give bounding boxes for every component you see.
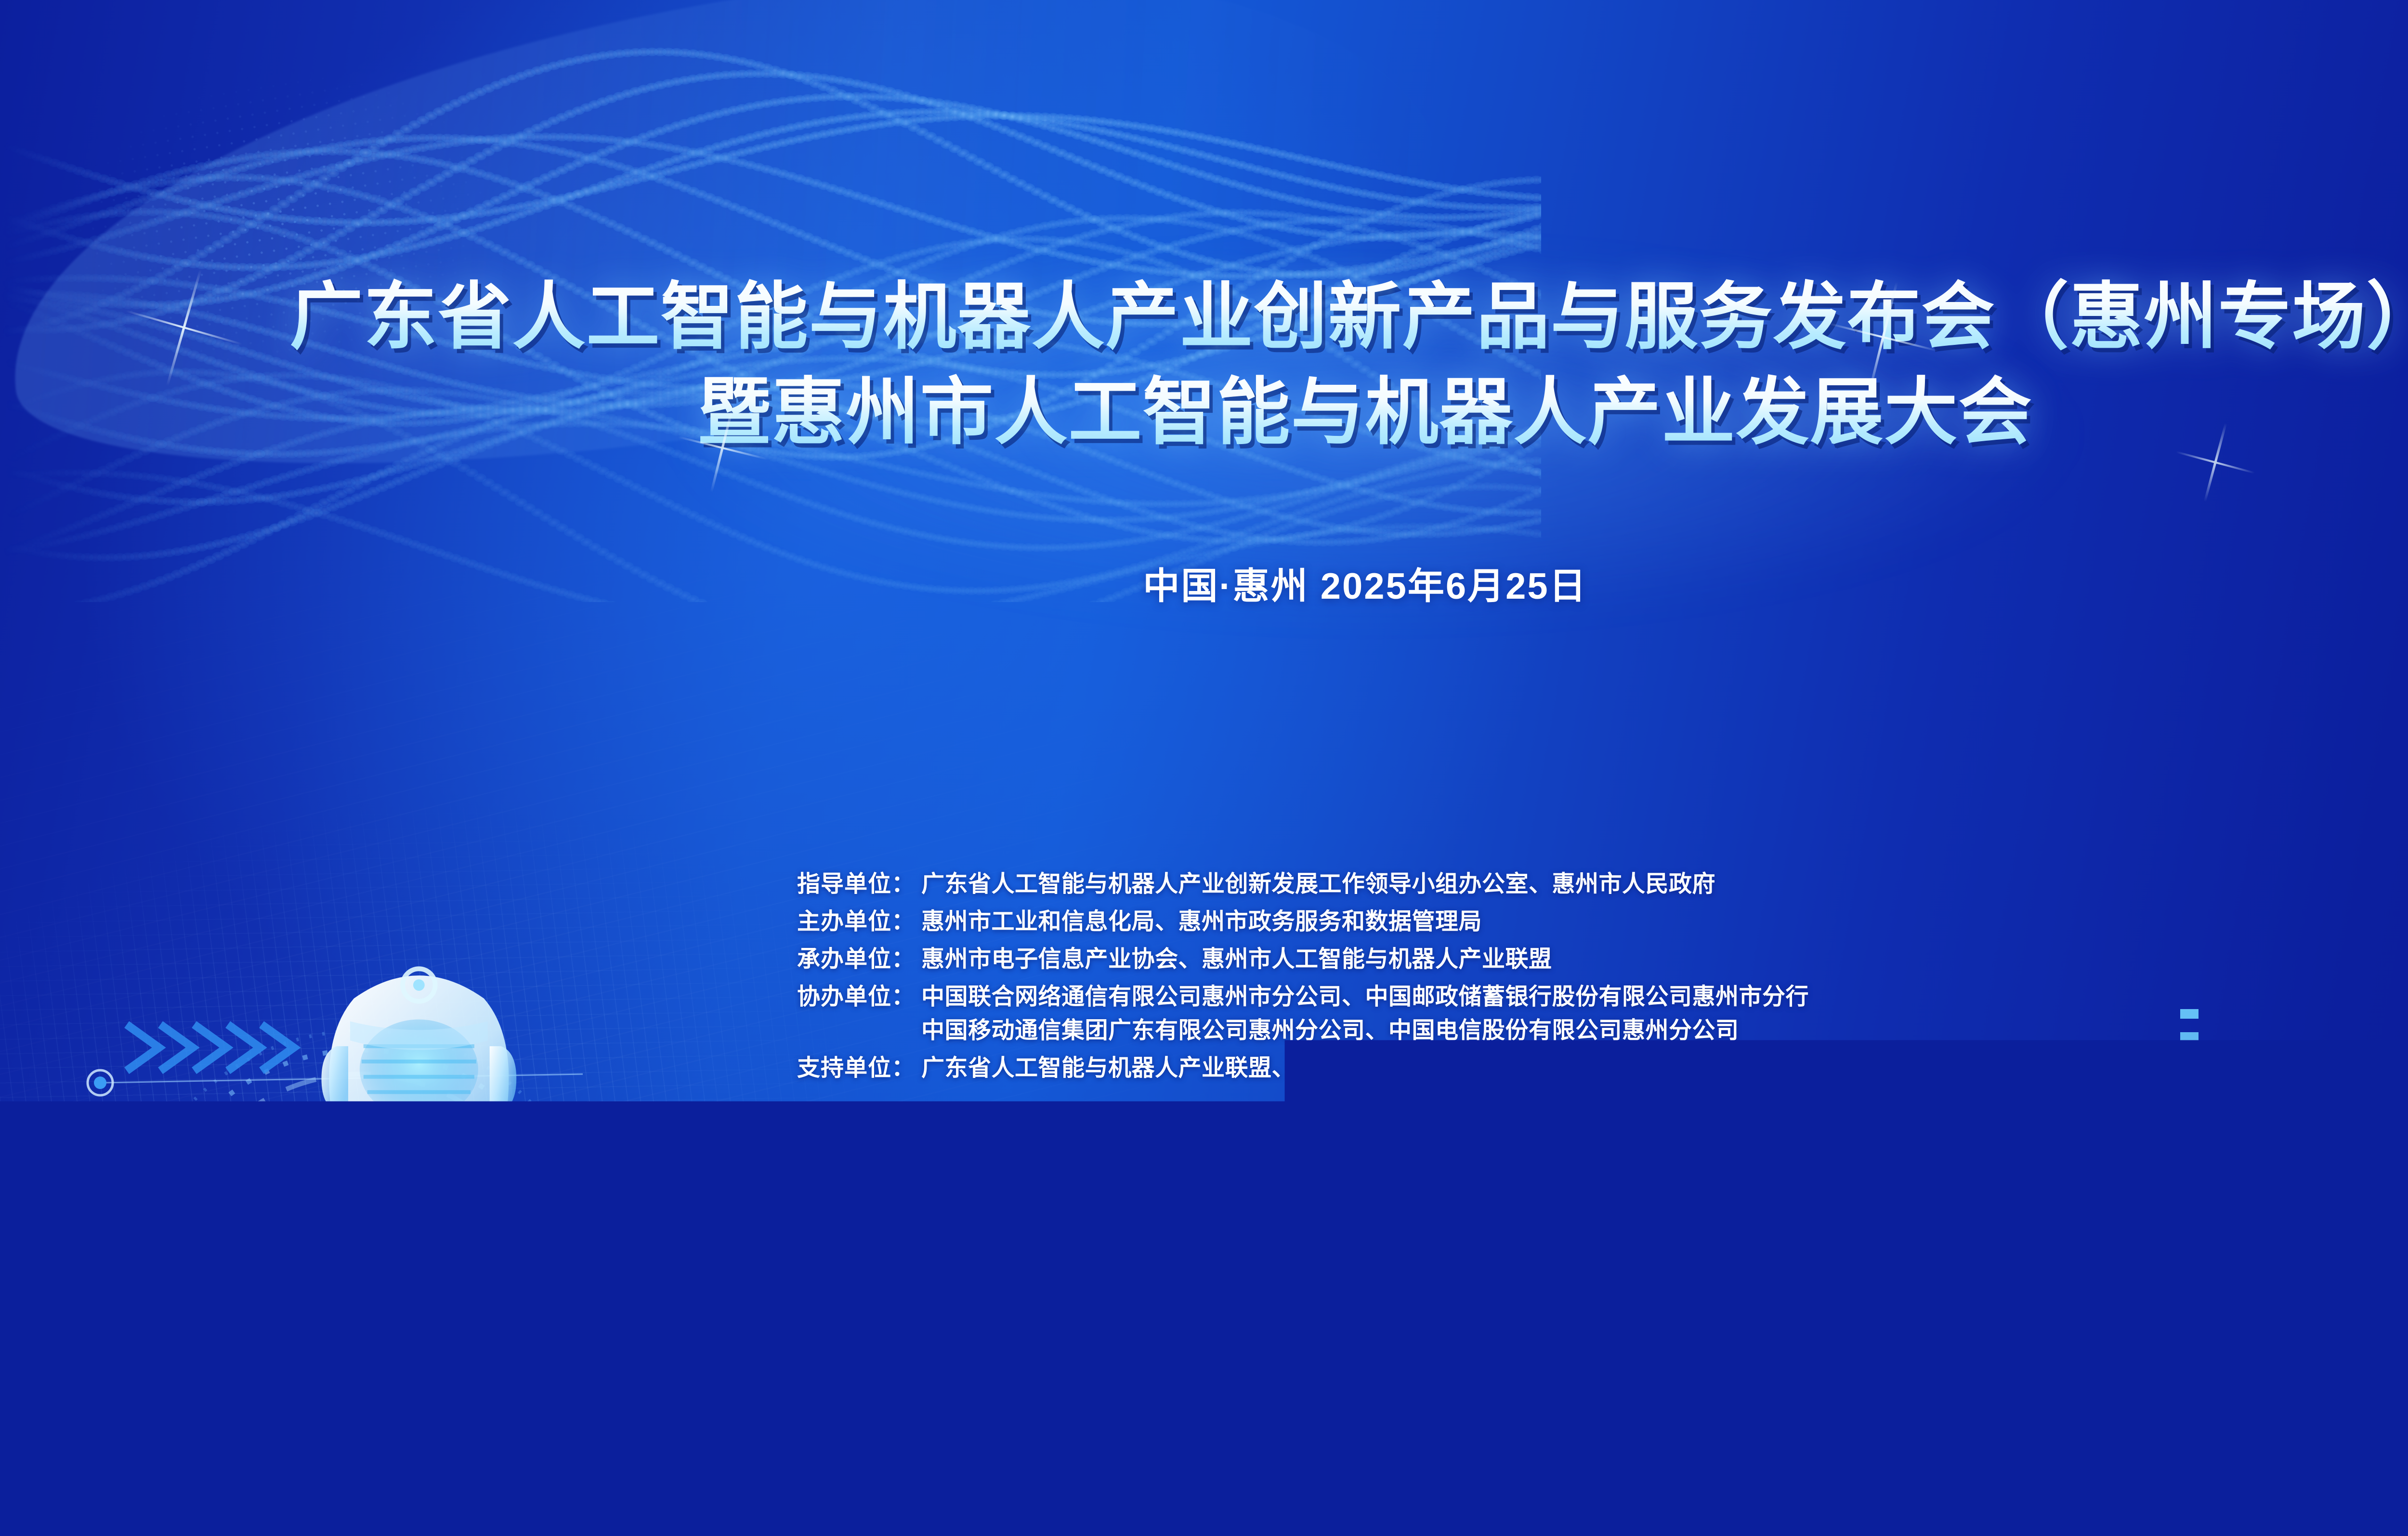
event-location-date: 中国·惠州 2025年6月25日 <box>0 556 2408 609</box>
credit-row: 协办单位：中国移动通信集团广东有限公司惠州分公司、中国电信股份有限公司惠州分公司 <box>797 1019 1879 1043</box>
credit-label: 承办单位： <box>797 948 921 971</box>
humanoid-robot-decor <box>101 930 718 1536</box>
credit-row: 协办单位：中国联合网络通信有限公司惠州市分公司、中国邮政储蓄银行股份有限公司惠州… <box>797 985 1879 1009</box>
credit-label: 主办单位： <box>797 910 921 934</box>
organizer-credits: 指导单位：广东省人工智能与机器人产业创新发展工作领导小组办公室、惠州市人民政府主… <box>797 873 1879 1094</box>
credit-row: 指导单位：广东省人工智能与机器人产业创新发展工作领导小组办公室、惠州市人民政府 <box>797 873 1879 896</box>
equalizer-bar <box>1868 1334 1878 1536</box>
ai-logo: AI <box>2146 1231 2380 1438</box>
credit-label: 协办单位： <box>797 985 921 1009</box>
credit-value: 惠州市电子信息产业协会、惠州市人工智能与机器人产业联盟 <box>921 948 1552 971</box>
credit-label: 指导单位： <box>797 873 921 896</box>
credit-row: 支持单位：广东省人工智能与机器人产业联盟、深圳市人工智能产业协会、大湾区（东莞）… <box>797 1057 1879 1080</box>
credit-value: 广东省人工智能与机器人产业创新发展工作领导小组办公室、惠州市人民政府 <box>921 873 1715 896</box>
credit-value: 中国联合网络通信有限公司惠州市分公司、中国邮政储蓄银行股份有限公司惠州市分行 <box>921 985 1809 1009</box>
credit-row: 承办单位：惠州市电子信息产业协会、惠州市人工智能与机器人产业联盟 <box>797 948 1879 971</box>
credit-value: 惠州市工业和信息化局、惠州市政务服务和数据管理局 <box>921 910 1482 934</box>
center-glow-decor <box>698 1339 1180 1536</box>
banner-stage: AI 广东省人工智能与机器人产业创新产品与服务发布会（惠州专场） 暨惠州市人工智… <box>0 0 2408 1536</box>
credit-value: 广东省人工智能与机器人产业联盟、深圳市人工智能产业协会、大湾区（东莞）人工智能联… <box>921 1057 1879 1080</box>
page-title-line-2: 暨惠州市人工智能与机器人产业发展大会 <box>0 365 2408 460</box>
ladder-bars-decor <box>2028 1101 2100 1536</box>
equalizer-bar <box>1996 1207 2026 1536</box>
credit-row: 主办单位：惠州市工业和信息化局、惠州市政务服务和数据管理局 <box>797 910 1879 934</box>
credit-value: 中国移动通信集团广东有限公司惠州分公司、中国电信股份有限公司惠州分公司 <box>921 1019 1739 1043</box>
equalizer-bar <box>1942 1137 1953 1536</box>
page-title-line-1: 广东省人工智能与机器人产业创新产品与服务发布会（惠州专场） <box>0 270 2408 365</box>
credit-label: 支持单位： <box>797 1057 921 1080</box>
title-block: 广东省人工智能与机器人产业创新产品与服务发布会（惠州专场） 暨惠州市人工智能与机… <box>0 270 2408 460</box>
